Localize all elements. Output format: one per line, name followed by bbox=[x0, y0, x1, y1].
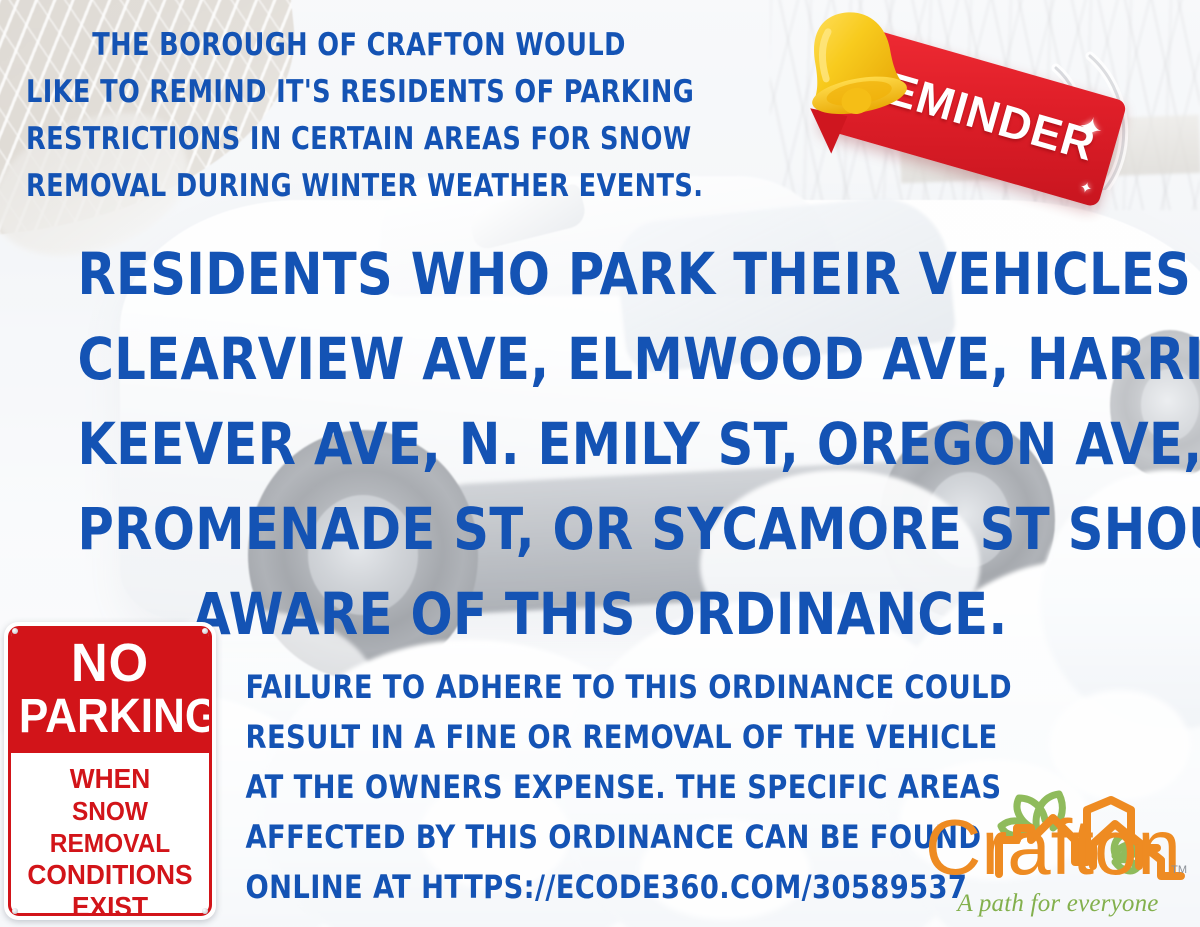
no-parking-sign: NO PARKING WHEN SNOW REMOVAL CONDITIONS … bbox=[4, 622, 216, 920]
reminder-badge: REMINDER ✦ ✦ bbox=[786, 8, 1146, 218]
footnote-line-2: result in a fine or removal of the vehic… bbox=[246, 712, 911, 762]
headline-line-2: Clearview Ave, Elmwood Ave, Harris Ave, bbox=[78, 317, 1123, 402]
headline-line-1: Residents who park their vehicles on bbox=[78, 232, 1123, 317]
crafton-logo[interactable]: Crafton TM A path for everyone bbox=[925, 788, 1193, 920]
no-parking-line-1: NO bbox=[17, 635, 203, 691]
sparkle-icon: ✦ bbox=[1078, 180, 1094, 198]
footnote-paragraph: Failure to adhere to this ordinance coul… bbox=[246, 662, 911, 912]
headline-block: Residents who park their vehicles on Cle… bbox=[78, 232, 1123, 657]
no-parking-sub-3: CONDITIONS bbox=[17, 859, 203, 891]
poster-content: The Borough of Crafton would like to rem… bbox=[0, 0, 1200, 927]
no-parking-sub-4: EXIST bbox=[17, 891, 203, 916]
no-parking-sign-inner: NO PARKING WHEN SNOW REMOVAL CONDITIONS … bbox=[8, 626, 212, 916]
intro-line-1: The Borough of Crafton would bbox=[26, 22, 670, 69]
snow-parking-notice-poster: The Borough of Crafton would like to rem… bbox=[0, 0, 1200, 927]
intro-line-4: removal during winter weather events. bbox=[26, 163, 670, 210]
trademark-symbol: TM bbox=[1171, 864, 1187, 876]
no-parking-line-2: PARKING bbox=[19, 691, 201, 743]
headline-line-4: Promenade St, or Sycamore St should be bbox=[78, 487, 1123, 572]
crafton-wordmark-text: Crafton bbox=[925, 803, 1181, 888]
bell-icon bbox=[785, 0, 921, 129]
headline-line-5: aware of this ordinance. bbox=[78, 572, 1123, 657]
sign-screw bbox=[12, 628, 18, 634]
headline-line-3: Keever Ave, N. Emily St, Oregon Ave, bbox=[78, 402, 1123, 487]
no-parking-sign-header: NO PARKING bbox=[11, 629, 209, 753]
footnote-line-4: affected by this ordinance can be found bbox=[246, 812, 911, 862]
intro-line-2: like to remind it's residents of parking bbox=[26, 69, 670, 116]
sign-screw bbox=[12, 908, 18, 914]
intro-line-3: restrictions in certain areas for snow bbox=[26, 116, 670, 163]
crafton-logo-mark: Crafton bbox=[925, 788, 1193, 888]
crafton-tagline: A path for everyone bbox=[933, 890, 1183, 918]
footnote-line-1: Failure to adhere to this ordinance coul… bbox=[246, 662, 911, 712]
no-parking-sign-subtext: WHEN SNOW REMOVAL CONDITIONS EXIST bbox=[11, 753, 209, 916]
intro-paragraph: The Borough of Crafton would like to rem… bbox=[26, 22, 670, 210]
sign-screw bbox=[202, 628, 208, 634]
no-parking-sub-2: SNOW REMOVAL bbox=[17, 795, 203, 859]
footnote-line-5-url[interactable]: online at https://ecode360.com/30589537 bbox=[246, 862, 911, 912]
no-parking-sub-1: WHEN bbox=[17, 763, 203, 795]
footnote-line-3: at the owners expense. The specific area… bbox=[246, 762, 911, 812]
sign-screw bbox=[202, 908, 208, 914]
